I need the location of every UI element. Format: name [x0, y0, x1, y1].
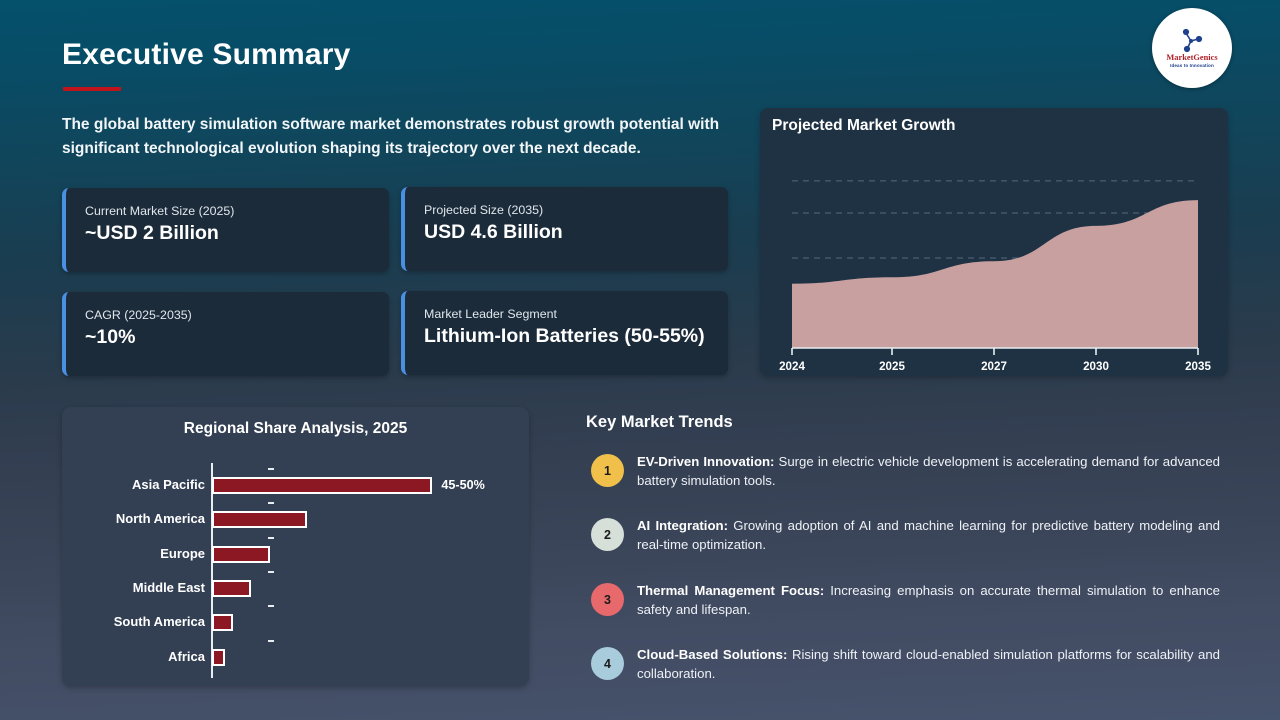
bar-fill: [212, 477, 432, 494]
kpi-label: Market Leader Segment: [424, 307, 557, 321]
kpi-card-projected-size: Projected Size (2035) USD 4.6 Billion: [401, 187, 728, 271]
x-axis-label: 2024: [779, 360, 805, 373]
projected-market-growth-panel: Projected Market Growth 2024202520272030…: [760, 108, 1228, 376]
kpi-card-market-leader-segment: Market Leader Segment Lithium-Ion Batter…: [401, 291, 728, 375]
bar-category-label: Africa: [62, 640, 205, 674]
bar-fill: [212, 580, 251, 597]
bar-axis-tick: [268, 502, 274, 504]
title-accent-rule: [63, 87, 121, 91]
trend-heading: Thermal Management Focus:: [637, 583, 824, 598]
bar-axis-tick: [268, 537, 274, 539]
bar-axis-tick: [268, 468, 274, 470]
x-axis-label: 2035: [1185, 360, 1211, 373]
bar-chart-row: Europe: [62, 537, 529, 571]
trend-number-badge: 3: [591, 583, 624, 616]
trend-text: AI Integration: Growing adoption of AI a…: [637, 516, 1220, 554]
bar-category-label: Asia Pacific: [62, 468, 205, 502]
trend-heading: EV-Driven Innovation:: [637, 454, 774, 469]
kpi-card-cagr: CAGR (2025-2035) ~10%: [62, 292, 389, 376]
bar-chart-row: Africa: [62, 640, 529, 674]
company-logo: MarketGenics Ideas to Innovation: [1152, 8, 1232, 88]
bar-axis-tick: [268, 571, 274, 573]
logo-company-name: MarketGenics: [1166, 54, 1217, 62]
bar-category-label: North America: [62, 502, 205, 536]
kpi-value: Lithium-Ion Batteries (50-55%): [424, 325, 705, 348]
kpi-value: ~10%: [85, 326, 135, 349]
bar-chart-row: South America: [62, 605, 529, 639]
trend-heading: AI Integration:: [637, 518, 728, 533]
chart-title: Regional Share Analysis, 2025: [62, 420, 529, 438]
bar-chart-row: North America: [62, 502, 529, 536]
kpi-label: Current Market Size (2025): [85, 204, 234, 218]
page-title: Executive Summary: [62, 38, 351, 72]
bar-category-label: Middle East: [62, 571, 205, 605]
bar-category-label: Europe: [62, 537, 205, 571]
bar-axis-tick: [268, 605, 274, 607]
kpi-value: ~USD 2 Billion: [85, 222, 219, 245]
x-axis-label: 2030: [1083, 360, 1109, 373]
x-axis-label: 2025: [879, 360, 905, 373]
bar-fill: [212, 546, 270, 563]
trend-number-badge: 1: [591, 454, 624, 487]
trend-number-badge: 2: [591, 518, 624, 551]
kpi-value: USD 4.6 Billion: [424, 221, 563, 244]
bar-fill: [212, 649, 225, 666]
bar-fill: [212, 511, 307, 528]
bar-chart-row: Middle East: [62, 571, 529, 605]
x-axis-label: 2027: [981, 360, 1007, 373]
bar-category-label: South America: [62, 605, 205, 639]
area-chart: [760, 108, 1228, 376]
kpi-label: Projected Size (2035): [424, 203, 543, 217]
kpi-label: CAGR (2025-2035): [85, 308, 192, 322]
trends-title: Key Market Trends: [586, 413, 733, 432]
trend-number-badge: 4: [591, 647, 624, 680]
trend-text: Thermal Management Focus: Increasing emp…: [637, 581, 1220, 619]
logo-tagline: Ideas to Innovation: [1170, 64, 1214, 69]
bar-chart-row: Asia Pacific45-50%: [62, 468, 529, 502]
trend-text: Cloud-Based Solutions: Rising shift towa…: [637, 645, 1220, 683]
bar-axis-tick: [268, 640, 274, 642]
trend-text: EV-Driven Innovation: Surge in electric …: [637, 452, 1220, 490]
page-subtitle: The global battery simulation software m…: [62, 113, 734, 160]
bar-fill: [212, 614, 233, 631]
kpi-card-current-market-size: Current Market Size (2025) ~USD 2 Billio…: [62, 188, 389, 272]
network-node-icon: [1177, 27, 1207, 54]
trend-heading: Cloud-Based Solutions:: [637, 647, 787, 662]
bar-value-label: 45-50%: [441, 468, 484, 502]
